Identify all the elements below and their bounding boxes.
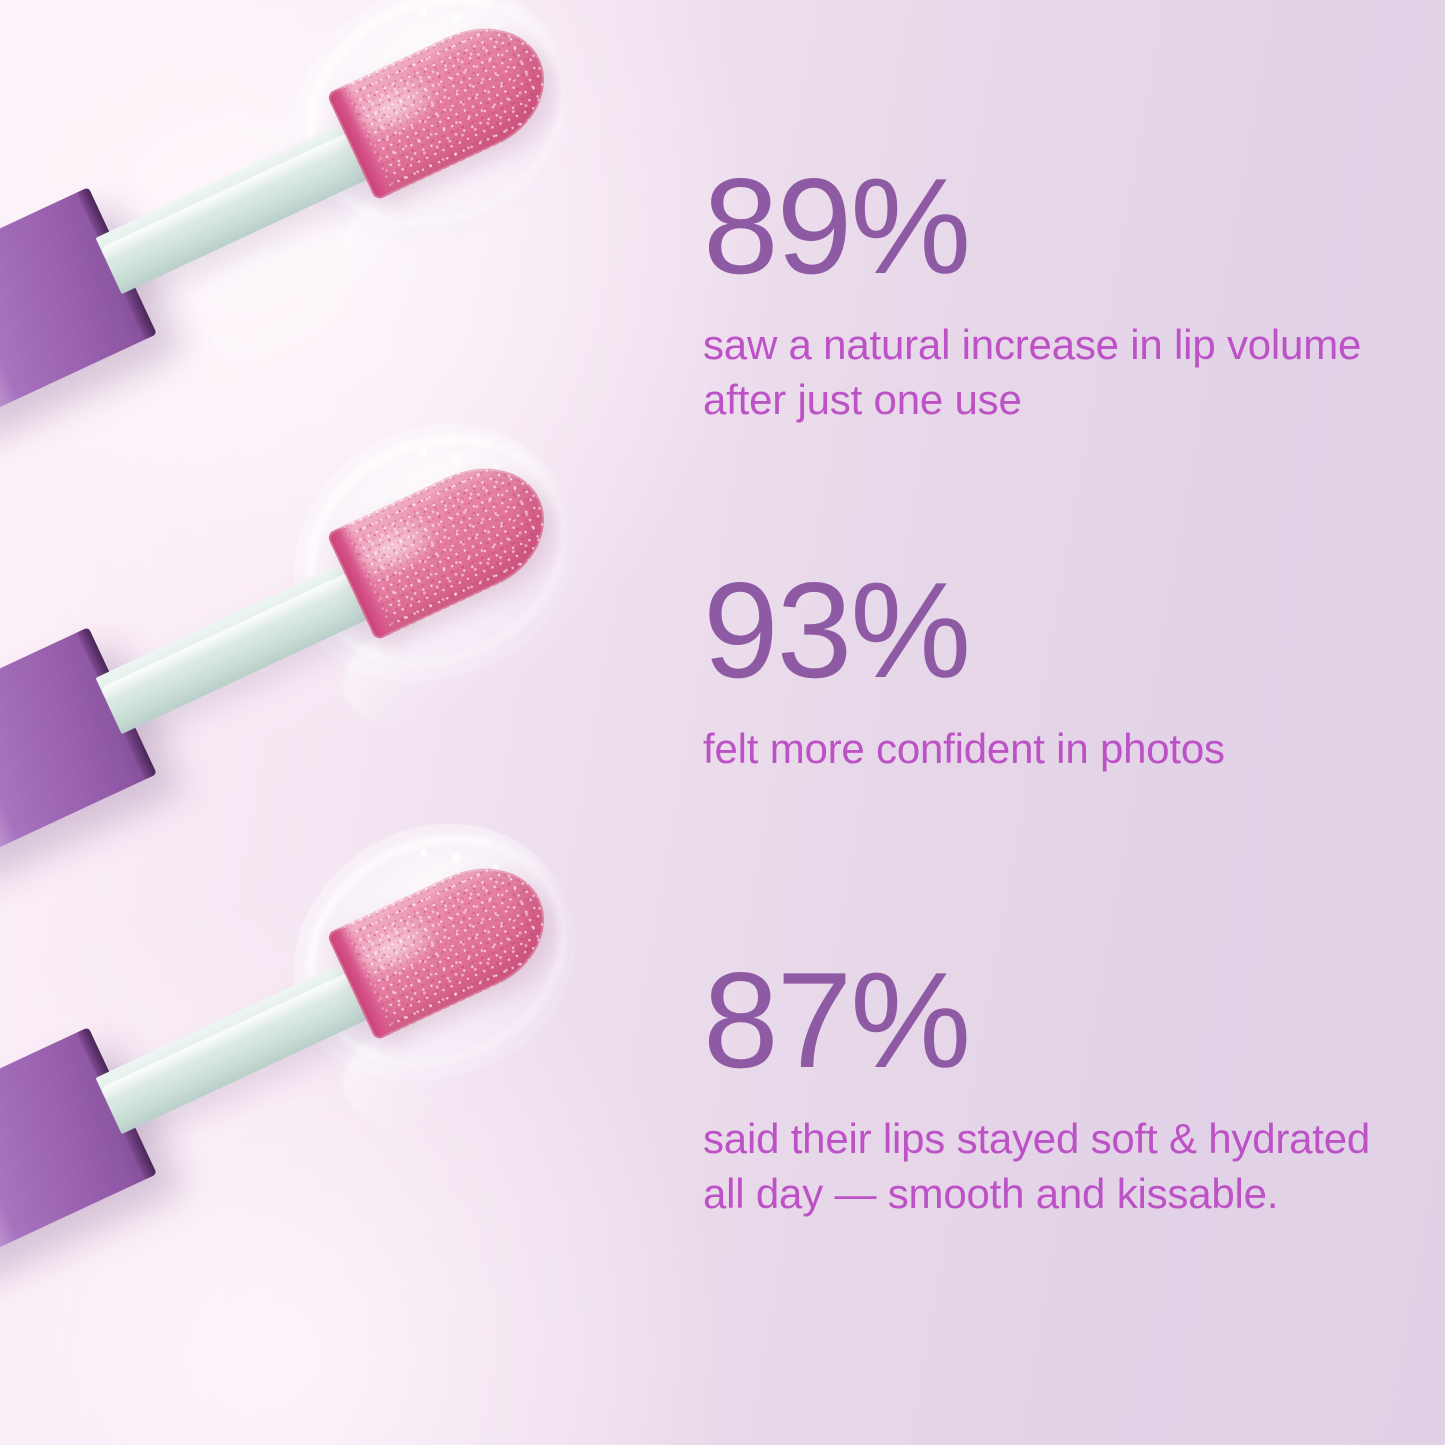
stem-highlight	[100, 121, 378, 261]
stat-block-1: 89% saw a natural increase in lip volume…	[703, 158, 1415, 427]
lip-gloss-stats-poster: 89% saw a natural increase in lip volume…	[0, 0, 1445, 1445]
stat-value: 89%	[703, 158, 1415, 294]
stat-description: said their lips stayed soft & hydrated a…	[703, 1112, 1415, 1221]
stat-description: saw a natural increase in lip volume aft…	[703, 318, 1415, 427]
cap-sheen	[0, 691, 19, 863]
cap-sheen	[0, 251, 19, 423]
stat-value: 87%	[703, 952, 1415, 1088]
stat-description: felt more confident in photos	[703, 722, 1415, 777]
stat-block-2: 93% felt more confident in photos	[703, 562, 1415, 777]
lip-gloss-wand-3	[0, 960, 640, 1390]
stat-value: 93%	[703, 562, 1415, 698]
stem-highlight	[100, 961, 378, 1101]
stem-highlight	[100, 561, 378, 701]
stat-block-3: 87% said their lips stayed soft & hydrat…	[703, 952, 1415, 1221]
wand-assembly	[0, 0, 605, 408]
cap-sheen	[0, 1091, 19, 1263]
